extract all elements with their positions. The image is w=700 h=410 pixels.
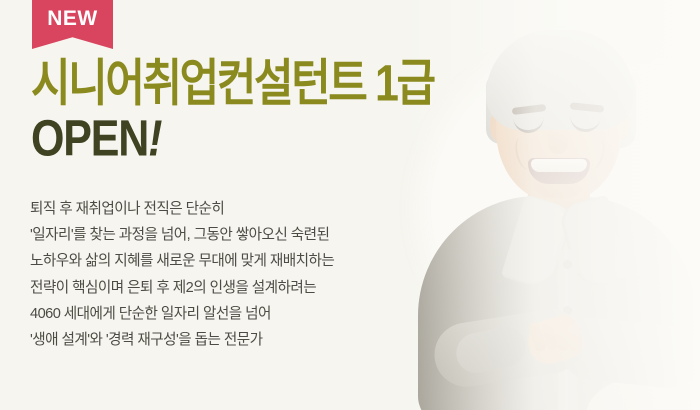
- new-badge: NEW: [32, 0, 113, 49]
- description-line: 4060 세대에게 단순한 일자리 알선을 넘어: [30, 301, 470, 327]
- headline-primary: 시니어취업컨설턴트 1급: [31, 58, 671, 112]
- headline-exclamation: !: [148, 110, 161, 167]
- description-text: 퇴직 후 재취업이나 전직은 단순히 '일자리'를 찾는 과정을 넘어, 그동안…: [30, 196, 470, 353]
- description-line: '생애 설계'와 '경력 재구성'을 돕는 전문가: [30, 327, 470, 353]
- headline-open: OPEN!: [31, 113, 671, 167]
- new-badge-label: NEW: [47, 8, 98, 29]
- description-line: 전략이 핵심이며 은퇴 후 제2의 인생을 설계하려는: [30, 275, 470, 301]
- description-line: 노하우와 삶의 지혜를 새로운 무대에 맞게 재배치하는: [30, 248, 470, 274]
- promo-banner: NEW 시니어취업컨설턴트 1급 OPEN! 퇴직 후 재취업이나 전직은 단순…: [0, 0, 700, 410]
- headline-open-word: OPEN: [31, 110, 148, 167]
- description-line: '일자리'를 찾는 과정을 넘어, 그동안 쌓아오신 숙련된: [30, 222, 470, 248]
- page-title: 시니어취업컨설턴트 1급 OPEN!: [31, 58, 671, 158]
- description-line: 퇴직 후 재취업이나 전직은 단순히: [30, 196, 470, 222]
